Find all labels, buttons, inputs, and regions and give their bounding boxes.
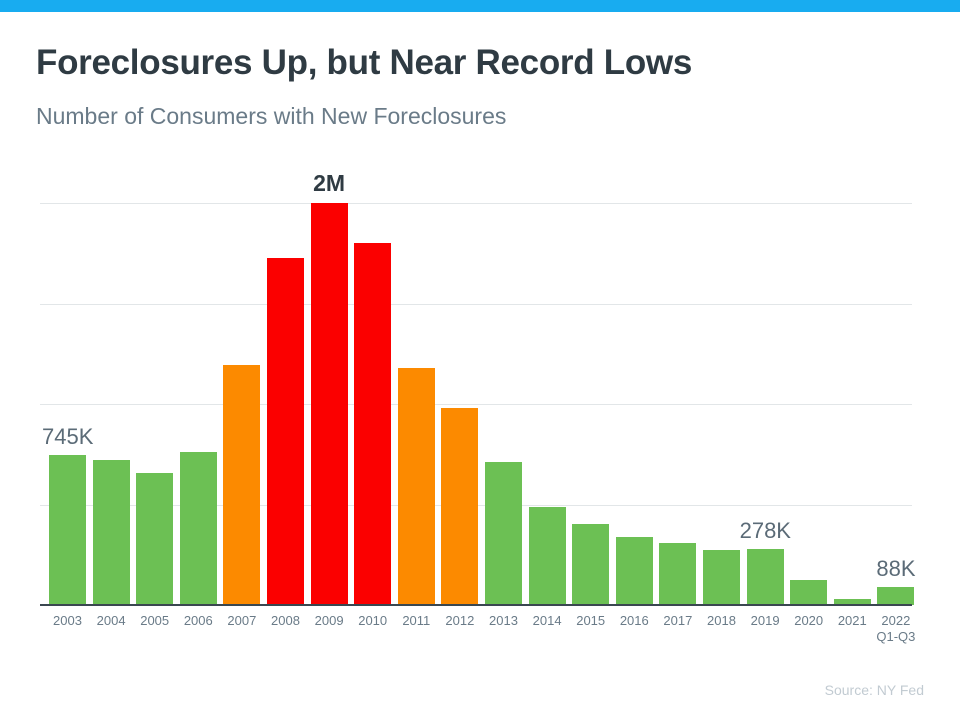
x-axis-label-2014: 2014	[523, 613, 572, 629]
x-axis-label-2004: 2004	[87, 613, 136, 629]
x-axis-label-year: 2008	[271, 613, 300, 628]
x-axis-label-year: 2006	[184, 613, 213, 628]
x-axis-label-2018: 2018	[697, 613, 746, 629]
gridline	[40, 304, 912, 305]
bar-2008[interactable]	[267, 258, 304, 605]
x-axis-line	[40, 604, 912, 606]
x-axis-label-year: 2022	[881, 613, 910, 628]
x-axis-label-year: 2016	[620, 613, 649, 628]
gridline	[40, 203, 912, 204]
x-axis-label-2008: 2008	[261, 613, 310, 629]
x-axis-label-year: 2021	[838, 613, 867, 628]
x-axis-label-2005: 2005	[130, 613, 179, 629]
x-axis-label-year: 2011	[402, 613, 430, 628]
gridline	[40, 404, 912, 405]
bar-2010[interactable]	[354, 243, 391, 605]
bar-2014[interactable]	[529, 507, 566, 605]
x-axis-label-2019: 2019	[741, 613, 790, 629]
x-axis-label-year: 2009	[315, 613, 344, 628]
bar-2018[interactable]	[703, 550, 740, 605]
x-axis-label-2012: 2012	[435, 613, 484, 629]
bar-2004[interactable]	[93, 460, 130, 605]
bar-2006[interactable]	[180, 452, 217, 605]
x-axis-label-2017: 2017	[653, 613, 702, 629]
x-axis-label-year: 2014	[533, 613, 562, 628]
bar-2016[interactable]	[616, 537, 653, 605]
bar-2011[interactable]	[398, 368, 435, 605]
x-axis-label-year: 2010	[358, 613, 387, 628]
x-axis-label-2022: 2022Q1-Q3	[871, 613, 920, 645]
bar-2009[interactable]	[311, 203, 348, 605]
x-axis-label-year: 2012	[445, 613, 474, 628]
chart-page: Foreclosures Up, but Near Record Lows Nu…	[0, 0, 960, 720]
x-axis-label-year: 2005	[140, 613, 169, 628]
value-label-2009: 2M	[313, 170, 345, 197]
bar-chart-plot: 2003200420052006200720082009201020112012…	[0, 0, 960, 720]
x-axis-label-2015: 2015	[566, 613, 615, 629]
x-axis-label-year: 2004	[97, 613, 126, 628]
value-label-2022: 88K	[876, 556, 915, 582]
bar-2020[interactable]	[790, 580, 827, 605]
x-axis-label-2011: 2011	[392, 613, 441, 629]
x-axis-label-2006: 2006	[174, 613, 223, 629]
value-label-2003: 745K	[42, 424, 93, 450]
bar-2012[interactable]	[441, 408, 478, 605]
x-axis-label-year: 2018	[707, 613, 736, 628]
value-label-2019: 278K	[740, 518, 791, 544]
bar-2019[interactable]	[747, 549, 784, 605]
bar-2017[interactable]	[659, 543, 696, 605]
x-axis-label-year: 2017	[663, 613, 692, 628]
bar-2022[interactable]	[877, 587, 914, 605]
x-axis-label-year: 2013	[489, 613, 518, 628]
x-axis-label-2013: 2013	[479, 613, 528, 629]
x-axis-label-year: 2019	[751, 613, 780, 628]
bar-2003[interactable]	[49, 455, 86, 605]
x-axis-label-2009: 2009	[305, 613, 354, 629]
bar-2005[interactable]	[136, 473, 173, 605]
source-attribution: Source: NY Fed	[825, 682, 924, 698]
x-axis-label-year: 2007	[227, 613, 256, 628]
x-axis-label-2016: 2016	[610, 613, 659, 629]
x-axis-label-2003: 2003	[43, 613, 92, 629]
x-axis-label-year: 2020	[794, 613, 823, 628]
bar-2013[interactable]	[485, 462, 522, 605]
bar-2015[interactable]	[572, 524, 609, 605]
x-axis-label-2020: 2020	[784, 613, 833, 629]
x-axis-label-year: 2015	[576, 613, 605, 628]
x-axis-label-2010: 2010	[348, 613, 397, 629]
x-axis-label-period: Q1-Q3	[871, 629, 920, 645]
bar-2007[interactable]	[223, 365, 260, 605]
x-axis-label-year: 2003	[53, 613, 82, 628]
x-axis-label-2007: 2007	[217, 613, 266, 629]
x-axis-label-2021: 2021	[828, 613, 877, 629]
